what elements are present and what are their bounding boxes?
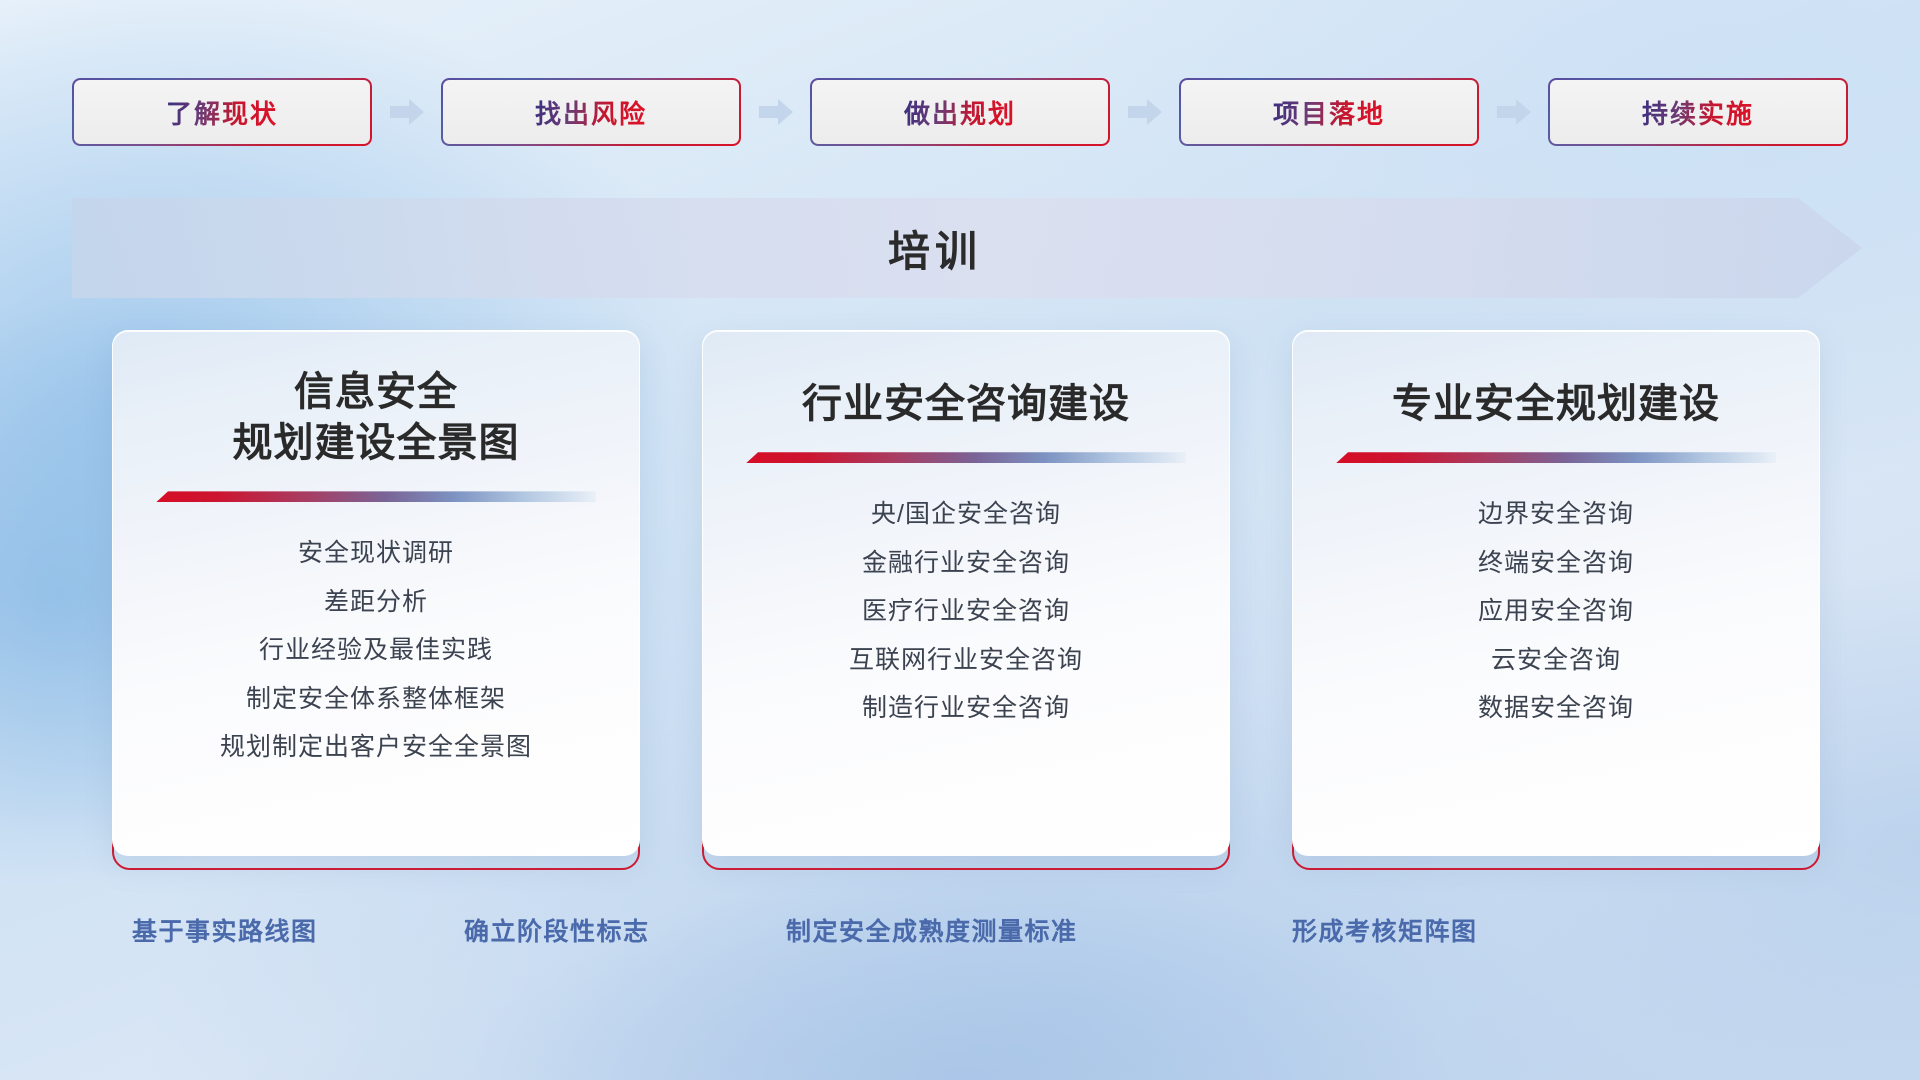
card-2[interactable]: 行业安全咨询建设 央/国企安全咨询 金融行业安全咨询 医疗行业安全咨询 互联网行…: [702, 330, 1230, 870]
card-title: 专业安全规划建设: [1392, 379, 1720, 430]
list-item: 互联网行业安全咨询: [849, 642, 1083, 680]
footer-label-4: 形成考核矩阵图: [1292, 912, 1478, 948]
card-1[interactable]: 信息安全 规划建设全景图 安全现状调研 差距分析 行业经验及最佳实践 制定安全体…: [112, 330, 640, 870]
footer-label-3: 制定安全成熟度测量标准: [786, 912, 1078, 948]
arrow-right-icon: [1497, 97, 1531, 127]
card-list: 央/国企安全咨询 金融行业安全咨询 医疗行业安全咨询 互联网行业安全咨询 制造行…: [703, 496, 1229, 728]
footer-label-2: 确立阶段性标志: [464, 912, 650, 948]
banner-label: 培训: [72, 198, 1798, 298]
step-label: 项目落地: [1273, 94, 1385, 131]
arrow-right-icon: [390, 97, 424, 127]
list-item: 制造行业安全咨询: [862, 690, 1070, 728]
list-item: 云安全咨询: [1491, 642, 1621, 680]
list-item: 央/国企安全咨询: [871, 496, 1061, 534]
list-item: 医疗行业安全咨询: [862, 593, 1070, 631]
footer-labels: 基于事实路线图 确立阶段性标志 制定安全成熟度测量标准 形成考核矩阵图: [0, 912, 1920, 960]
step-label: 了解现状: [166, 94, 278, 131]
list-item: 应用安全咨询: [1478, 593, 1634, 631]
list-item: 金融行业安全咨询: [862, 545, 1070, 583]
process-steps: 了解现状 找出风险 做出规划 项目落地 持续实施: [72, 78, 1848, 146]
list-item: 制定安全体系整体框架: [246, 681, 506, 719]
card-list: 安全现状调研 差距分析 行业经验及最佳实践 制定安全体系整体框架 规划制定出客户…: [113, 535, 639, 767]
step-box-3[interactable]: 做出规划: [810, 78, 1110, 146]
training-banner: 培训: [72, 198, 1862, 298]
card-divider: [746, 452, 1186, 470]
card-list: 边界安全咨询 终端安全咨询 应用安全咨询 云安全咨询 数据安全咨询: [1293, 496, 1819, 728]
card-panel: 专业安全规划建设 边界安全咨询 终端安全咨询 应用安全咨询 云安全咨询 数据安全…: [1292, 330, 1820, 856]
card-divider: [1336, 452, 1776, 470]
card-panel: 行业安全咨询建设 央/国企安全咨询 金融行业安全咨询 医疗行业安全咨询 互联网行…: [702, 330, 1230, 856]
step-label: 持续实施: [1642, 94, 1754, 131]
list-item: 边界安全咨询: [1478, 496, 1634, 534]
card-3[interactable]: 专业安全规划建设 边界安全咨询 终端安全咨询 应用安全咨询 云安全咨询 数据安全…: [1292, 330, 1820, 870]
list-item: 安全现状调研: [298, 535, 454, 573]
arrow-right-icon: [759, 97, 793, 127]
step-label: 找出风险: [535, 94, 647, 131]
step-box-2[interactable]: 找出风险: [441, 78, 741, 146]
card-panel: 信息安全 规划建设全景图 安全现状调研 差距分析 行业经验及最佳实践 制定安全体…: [112, 330, 640, 856]
step-box-4[interactable]: 项目落地: [1179, 78, 1479, 146]
cards-row: 信息安全 规划建设全景图 安全现状调研 差距分析 行业经验及最佳实践 制定安全体…: [112, 330, 1822, 870]
card-divider: [156, 491, 596, 509]
list-item: 行业经验及最佳实践: [259, 632, 493, 670]
card-title: 行业安全咨询建设: [802, 379, 1130, 430]
list-item: 终端安全咨询: [1478, 545, 1634, 583]
step-box-5[interactable]: 持续实施: [1548, 78, 1848, 146]
step-box-1[interactable]: 了解现状: [72, 78, 372, 146]
list-item: 差距分析: [324, 584, 428, 622]
list-item: 数据安全咨询: [1478, 690, 1634, 728]
arrow-right-icon: [1128, 97, 1162, 127]
footer-label-1: 基于事实路线图: [132, 912, 318, 948]
card-title: 信息安全 规划建设全景图: [233, 367, 520, 469]
list-item: 规划制定出客户安全全景图: [220, 729, 532, 767]
step-label: 做出规划: [904, 94, 1016, 131]
